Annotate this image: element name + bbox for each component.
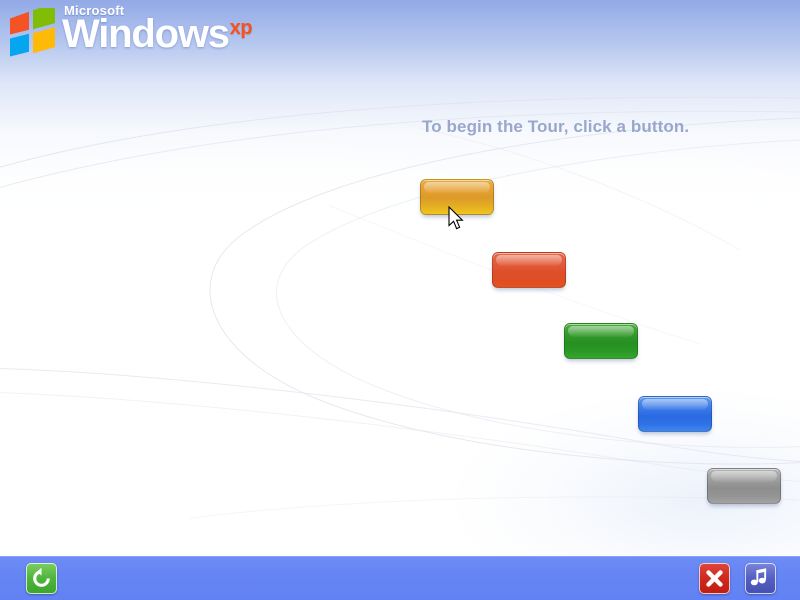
windows-xp-logo: Microsoft Windows xp <box>6 4 252 58</box>
tour-taskbar <box>0 556 800 600</box>
close-x-icon <box>699 563 730 594</box>
exit-button[interactable] <box>699 563 730 594</box>
windows-flag-icon <box>6 8 58 58</box>
sound-button[interactable] <box>745 563 776 594</box>
logo-wordmark: Microsoft Windows xp <box>62 4 252 53</box>
background-white-bloom-right <box>340 38 800 248</box>
tour-button-green[interactable] <box>564 323 638 359</box>
tour-button-orange[interactable] <box>420 179 494 215</box>
tour-button-red[interactable] <box>492 252 566 288</box>
tour-window: Microsoft Windows xp To begin the Tour, … <box>0 0 800 600</box>
tour-button-blue[interactable] <box>638 396 712 432</box>
tour-button-gray[interactable] <box>707 468 781 504</box>
music-note-icon <box>745 563 776 594</box>
logo-xp-label: xp <box>230 18 252 38</box>
replay-circular-arrow-icon <box>26 563 57 594</box>
tour-instruction-text: To begin the Tour, click a button. <box>422 117 689 137</box>
background-blue-haze <box>380 360 800 560</box>
logo-windows-label: Windows <box>62 16 229 53</box>
replay-button[interactable] <box>26 563 57 594</box>
